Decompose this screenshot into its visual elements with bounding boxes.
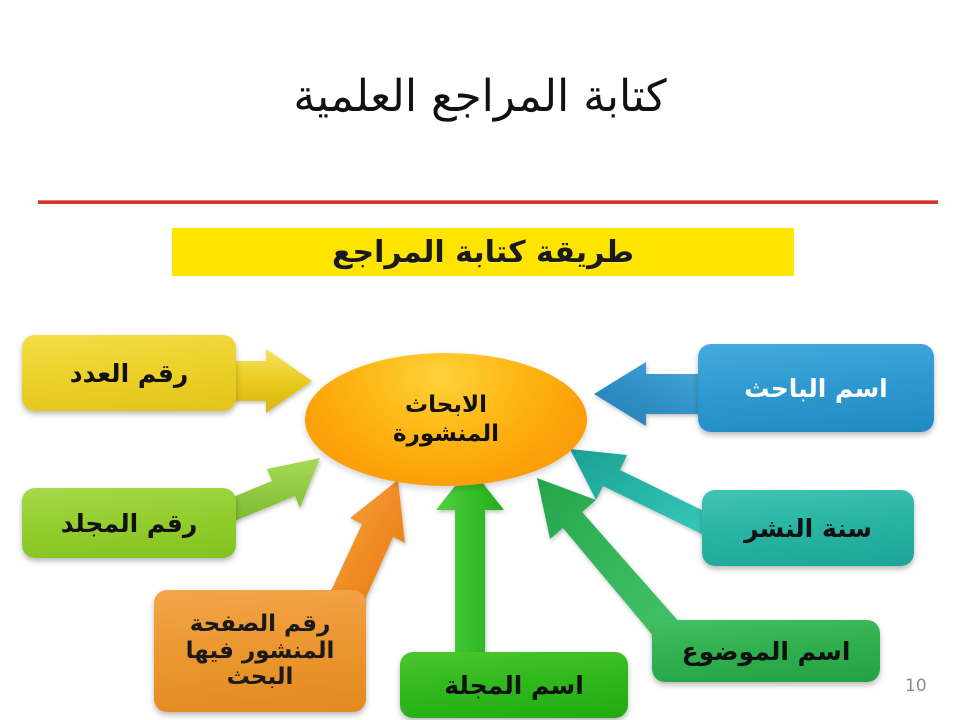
center-node-line-1: الابحاث (405, 391, 487, 420)
node-issue-number[interactable]: رقم العدد (22, 335, 236, 411)
page-title: كتابة المراجع العلمية (0, 71, 960, 122)
node-page-number[interactable]: رقم الصفحة المنشور فيها البحث (154, 590, 366, 712)
node-issue-number-label: رقم العدد (62, 359, 196, 388)
diagram-banner-label: طريقة كتابة المراجع (332, 235, 634, 270)
node-journal-name[interactable]: اسم المجلة (400, 652, 628, 718)
node-researcher-name[interactable]: اسم الباحث (698, 344, 934, 432)
arrow-journal-to-center (436, 467, 504, 660)
title-divider-rule (38, 200, 938, 204)
node-journal-name-label: اسم المجلة (436, 671, 592, 700)
node-page-number-line-1: رقم الصفحة (190, 611, 331, 637)
node-page-number-label: رقم الصفحة المنشور فيها البحث (178, 611, 343, 691)
node-subject-name-label: اسم الموضوع (674, 637, 859, 666)
slide-page-number: 10 (905, 676, 927, 696)
node-page-number-line-2: المنشور فيها (186, 638, 335, 664)
node-subject-name[interactable]: اسم الموضوع (652, 620, 880, 682)
node-researcher-name-label: اسم الباحث (736, 374, 896, 403)
node-publication-year[interactable]: سنة النشر (702, 490, 914, 566)
slide-canvas: كتابة المراجع العلمية طريقة كتابة المراج… (0, 0, 960, 720)
node-volume-number[interactable]: رقم المجلد (22, 488, 236, 558)
diagram-banner: طريقة كتابة المراجع (172, 228, 794, 276)
arrow-researcher-to-center (594, 362, 706, 426)
node-publication-year-label: سنة النشر (736, 514, 880, 543)
arrow-year-to-center (570, 449, 714, 536)
center-node-published-research[interactable]: الابحاث المنشورة (305, 353, 587, 486)
node-volume-number-label: رقم المجلد (53, 509, 205, 538)
node-page-number-line-3: البحث (227, 664, 294, 690)
center-node-line-2: المنشورة (393, 420, 499, 449)
